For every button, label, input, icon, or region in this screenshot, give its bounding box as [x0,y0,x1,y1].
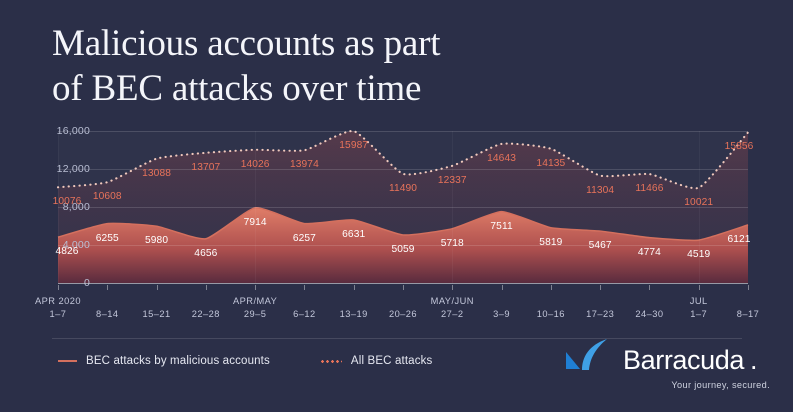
legend-label-all-bec-attacks: All BEC attacks [351,355,433,367]
dotted-line-swatch-icon [320,360,342,363]
data-label-malicious-accounts: 6121 [727,234,750,245]
brand-tagline: Your journey, secured. [563,380,773,390]
x-axis-tick-label: 20–26 [389,296,417,319]
x-axis-tick-label: MAY/JUN27–2 [431,296,474,319]
x-axis-range-label: 29–5 [233,309,277,319]
gridline [58,207,748,208]
y-axis-tick-label: 16,000 [57,125,90,137]
x-axis-tick-mark [354,285,355,290]
x-axis-group-label: MAY/JUN [431,296,474,306]
x-axis-range-label: 17–23 [586,309,614,319]
x-axis-tick-label: 22–28 [192,296,220,319]
x-axis-tick-label: APR 20201–7 [35,296,81,319]
data-label-malicious-accounts: 4774 [638,247,661,258]
x-axis-tick-label: 17–23 [586,296,614,319]
x-axis-range-label: 8–17 [737,309,759,319]
data-label-malicious-accounts: 4826 [55,246,78,257]
x-axis-range-label: 13–19 [340,309,368,319]
x-axis-group-label: APR/MAY [233,296,277,306]
x-axis-range-label: 15–21 [143,309,171,319]
x-axis-tick-mark [206,285,207,290]
x-axis-range-label: 10–16 [537,309,565,319]
data-label-all-bec-attacks: 15856 [725,141,754,152]
data-label-malicious-accounts: 4656 [194,248,217,259]
x-axis-line [58,283,748,284]
x-axis-tick-mark [107,285,108,290]
data-label-malicious-accounts: 5718 [441,238,464,249]
x-axis-tick-label: 3–9 [493,296,510,319]
chart-infographic: Malicious accounts as part of BEC attack… [0,0,793,412]
data-label-malicious-accounts: 5980 [145,235,168,246]
data-label-malicious-accounts: 4519 [687,249,710,260]
x-axis-range-label: 27–2 [431,309,474,319]
x-axis-range-label: 22–28 [192,309,220,319]
x-axis-tick-mark [649,285,650,290]
barracuda-logo: Barracuda . Your journey, secured. [563,338,773,396]
x-axis-tick-mark [452,285,453,290]
legend-item-malicious-accounts[interactable]: BEC attacks by malicious accounts [58,355,270,367]
data-label-all-bec-attacks: 10608 [93,191,122,202]
x-axis-tick-label: APR/MAY29–5 [233,296,277,319]
data-label-all-bec-attacks: 13088 [142,168,171,179]
page-title: Malicious accounts as part of BEC attack… [52,22,612,112]
data-label-malicious-accounts: 6257 [293,233,316,244]
x-axis-tick-mark [502,285,503,290]
brand-name: Barracuda [623,347,744,374]
x-axis-range-label: 20–26 [389,309,417,319]
data-label-malicious-accounts: 5059 [391,244,414,255]
barracuda-fin-icon [563,338,617,374]
data-label-all-bec-attacks: 14026 [241,159,270,170]
x-axis-range-label: 24–30 [635,309,663,319]
x-axis-range-label: 1–7 [35,309,81,319]
x-axis-tick-label: 8–17 [737,296,759,319]
x-axis-group-label: APR 2020 [35,296,81,306]
data-label-all-bec-attacks: 13974 [290,159,319,170]
solid-line-swatch-icon [58,360,77,362]
x-axis-range-label: 8–14 [96,309,118,319]
title-line-1: Malicious accounts as part [52,22,612,67]
x-axis-tick-mark [403,285,404,290]
x-axis-tick-label: 10–16 [537,296,565,319]
x-axis-tick-mark [157,285,158,290]
legend-item-all-bec-attacks[interactable]: All BEC attacks [320,355,433,367]
data-label-all-bec-attacks: 14135 [536,158,565,169]
x-axis-tick-mark [58,285,59,290]
x-axis-tick-mark [551,285,552,290]
vertical-gridline [452,131,453,283]
x-axis-tick-label: 24–30 [635,296,663,319]
x-axis-range-label: 1–7 [690,309,708,319]
x-axis-tick-label: JUL1–7 [690,296,708,319]
y-axis-tick-label: 12,000 [57,163,90,175]
x-axis-group-label: JUL [690,296,708,306]
data-label-all-bec-attacks: 10076 [53,196,82,207]
title-line-2: of BEC attacks over time [52,67,612,112]
x-axis-tick-mark [699,285,700,290]
legend-label-malicious-accounts: BEC attacks by malicious accounts [86,355,270,367]
x-axis-tick-label: 6–12 [293,296,315,319]
x-axis-tick-label: 15–21 [143,296,171,319]
x-axis-tick-label: 13–19 [340,296,368,319]
data-label-all-bec-attacks: 12337 [438,175,467,186]
data-label-all-bec-attacks: 13707 [191,162,220,173]
data-label-malicious-accounts: 7914 [244,217,267,228]
x-axis-tick-mark [304,285,305,290]
gridline [58,131,748,132]
data-label-all-bec-attacks: 14643 [487,153,516,164]
vertical-gridline [255,131,256,283]
x-axis-tick-mark [748,285,749,290]
x-axis-range-label: 6–12 [293,309,315,319]
data-label-malicious-accounts: 5819 [539,237,562,248]
x-axis-tick-label: 8–14 [96,296,118,319]
x-axis-range-label: 3–9 [493,309,510,319]
x-axis-tick-mark [600,285,601,290]
data-label-all-bec-attacks: 11466 [635,183,663,194]
data-label-malicious-accounts: 6631 [342,229,365,240]
brand-trademark: . [750,347,758,374]
logo-row: Barracuda . [563,338,773,374]
data-label-all-bec-attacks: 15987 [339,140,368,151]
data-label-all-bec-attacks: 11304 [586,185,614,196]
data-label-malicious-accounts: 7511 [490,221,512,232]
chart-legend: BEC attacks by malicious accounts All BE… [58,355,432,367]
data-label-all-bec-attacks: 10021 [684,197,713,208]
data-label-malicious-accounts: 6255 [96,233,119,244]
x-axis-tick-mark [255,285,256,290]
data-label-all-bec-attacks: 11490 [389,183,417,194]
data-label-malicious-accounts: 5467 [589,240,612,251]
chart-area: 04,0008,00012,00016,000 APR 20201–7 8–14… [0,112,793,332]
